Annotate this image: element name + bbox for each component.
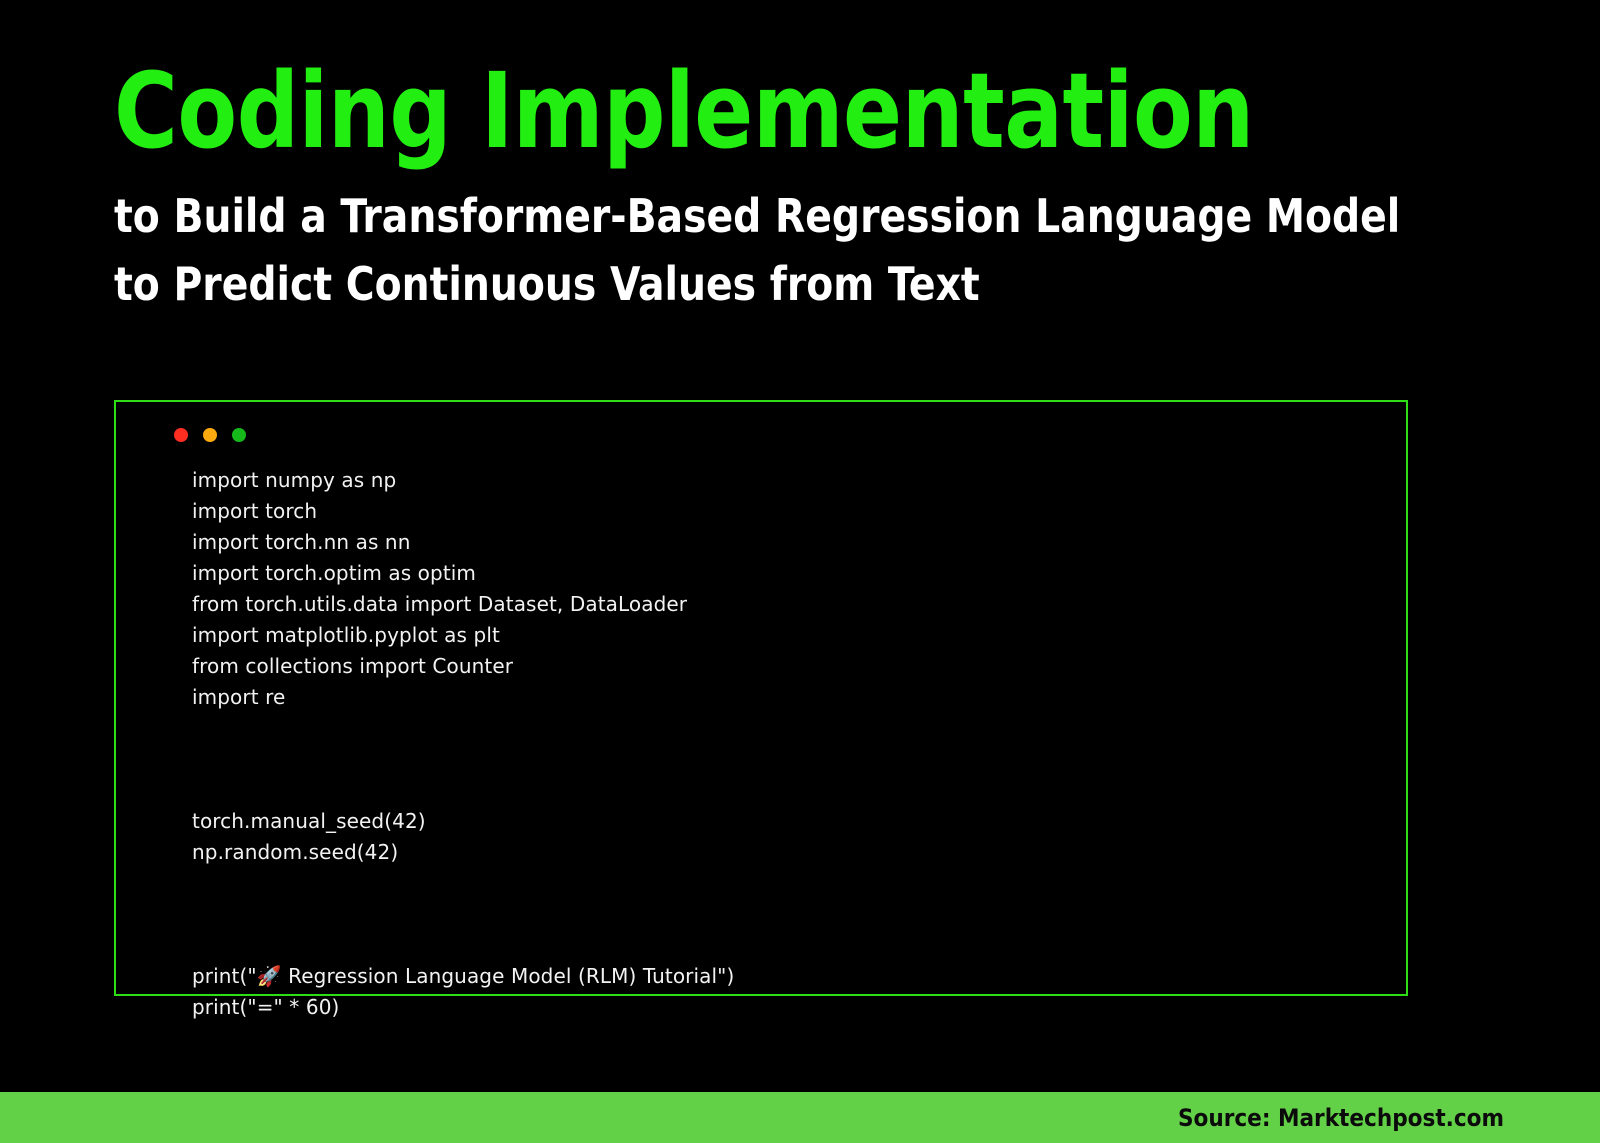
- page-subtitle-line-1: to Build a Transformer-Based Regression …: [114, 182, 1425, 250]
- window-controls: [174, 428, 246, 442]
- code-line: import torch.optim as optim: [192, 558, 1394, 589]
- code-line: import numpy as np: [192, 465, 1394, 496]
- page-title: Coding Implementation: [114, 58, 1397, 164]
- slide-root: Coding Implementation to Build a Transfo…: [0, 0, 1600, 1143]
- code-line: import torch: [192, 496, 1394, 527]
- maximize-dot-icon[interactable]: [232, 428, 246, 442]
- code-line-blank: [192, 713, 1394, 744]
- page-subtitle-line-2: to Predict Continuous Values from Text: [114, 250, 1425, 318]
- code-line-blank: [192, 868, 1394, 899]
- source-attribution: Source: Marktechpost.com: [1178, 1104, 1504, 1132]
- code-line: print("=" * 60): [192, 992, 1394, 1023]
- close-dot-icon[interactable]: [174, 428, 188, 442]
- code-line: from torch.utils.data import Dataset, Da…: [192, 589, 1394, 620]
- code-line: np.random.seed(42): [192, 837, 1394, 868]
- code-line: import re: [192, 682, 1394, 713]
- header: Coding Implementation to Build a Transfo…: [114, 58, 1494, 318]
- code-line: torch.manual_seed(42): [192, 806, 1394, 837]
- code-card: import numpy as np import torch import t…: [114, 400, 1408, 996]
- page-subtitle: to Build a Transformer-Based Regression …: [114, 182, 1425, 318]
- footer-bar: Source: Marktechpost.com: [0, 1092, 1600, 1143]
- code-line-blank: [192, 744, 1394, 775]
- code-line-blank: [192, 930, 1394, 961]
- code-line-blank: [192, 775, 1394, 806]
- code-line: import torch.nn as nn: [192, 527, 1394, 558]
- code-line: from collections import Counter: [192, 651, 1394, 682]
- code-line-blank: [192, 899, 1394, 930]
- code-line: print("🚀 Regression Language Model (RLM)…: [192, 961, 1394, 992]
- minimize-dot-icon[interactable]: [203, 428, 217, 442]
- code-block: import numpy as np import torch import t…: [192, 465, 1394, 984]
- code-line: import matplotlib.pyplot as plt: [192, 620, 1394, 651]
